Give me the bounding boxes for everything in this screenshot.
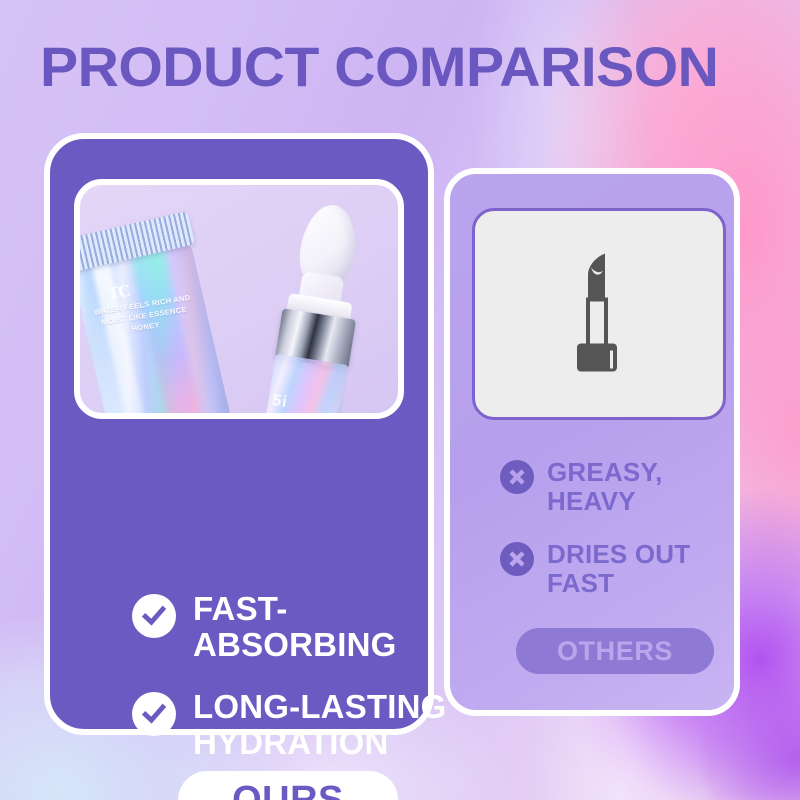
page-title: PRODUCT COMPARISON xyxy=(40,34,718,99)
list-item-label: DRIES OUT FAST xyxy=(547,540,730,598)
ours-feature-list: FAST-ABSORBING LONG-LASTING HYDRATION xyxy=(132,591,472,787)
dropper-bottle-product: 5i xyxy=(236,194,393,419)
others-card: GREASY, HEAVY DRIES OUT FAST OTHERS xyxy=(444,168,740,716)
tube-logo: TC xyxy=(107,281,131,304)
dropper-bottle-mark: 5i xyxy=(271,392,289,412)
x-circle-icon xyxy=(500,460,534,494)
list-item: GREASY, HEAVY xyxy=(500,458,730,516)
others-badge: OTHERS xyxy=(516,628,714,674)
check-circle-icon xyxy=(132,692,176,736)
list-item: FAST-ABSORBING xyxy=(132,591,472,663)
infographic-canvas: PRODUCT COMPARISON TC WATER FEELS RICH A… xyxy=(0,0,800,800)
list-item-label: LONG-LASTING HYDRATION xyxy=(193,689,472,761)
ours-product-photo: TC WATER FEELS RICH AND MOIST LIKE ESSEN… xyxy=(74,179,404,419)
list-item-label: GREASY, HEAVY xyxy=(547,458,730,516)
ours-badge: OURS xyxy=(178,771,398,800)
others-feature-list: GREASY, HEAVY DRIES OUT FAST xyxy=(500,458,730,622)
check-circle-icon xyxy=(132,594,176,638)
lipstick-icon xyxy=(564,252,634,377)
x-circle-icon xyxy=(500,542,534,576)
list-item-label: FAST-ABSORBING xyxy=(193,591,472,663)
list-item: DRIES OUT FAST xyxy=(500,540,730,598)
tube-bottom-mark: q xyxy=(150,417,162,419)
ours-card: TC WATER FEELS RICH AND MOIST LIKE ESSEN… xyxy=(44,133,434,735)
list-item: LONG-LASTING HYDRATION xyxy=(132,689,472,761)
others-product-panel xyxy=(472,208,726,420)
squeeze-tube-product: TC WATER FEELS RICH AND MOIST LIKE ESSEN… xyxy=(74,208,246,419)
